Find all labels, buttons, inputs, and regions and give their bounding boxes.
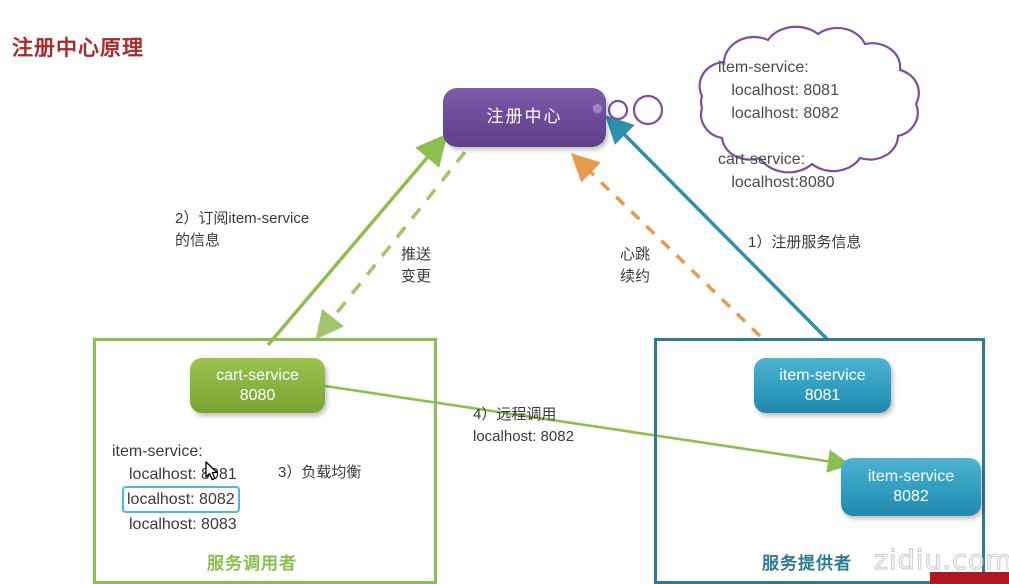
bottom-red-bar xyxy=(930,572,1009,584)
node-registry-label: 注册中心 xyxy=(487,107,563,128)
edge-loadbalance-label: 3）负载均衡 xyxy=(278,462,361,484)
edge-remote-label: 4）远程调用 localhost: 8082 xyxy=(473,404,574,448)
node-cart-service-port: 8080 xyxy=(240,386,276,406)
host-list-header: item-service: xyxy=(112,440,240,463)
node-cart-service-name: cart-service xyxy=(216,366,299,386)
node-cart-service[interactable]: cart-service 8080 xyxy=(190,358,325,413)
host-list: item-service: localhost: 8081 localhost:… xyxy=(112,440,240,536)
edge-subscribe-label: 2）订阅item-service 的信息 xyxy=(175,208,309,252)
node-item-service-8081-port: 8081 xyxy=(805,386,841,406)
node-item-service-8082[interactable]: item-service 8082 xyxy=(841,458,981,516)
node-item-service-8081-name: item-service xyxy=(779,366,865,386)
host-list-item-8083[interactable]: localhost: 8083 xyxy=(126,513,240,536)
mouse-cursor-icon xyxy=(205,461,221,483)
diagram-canvas: 注册中心原理 xyxy=(0,0,1009,584)
cloud-text: item-service: localhost: 8081 localhost:… xyxy=(718,56,839,194)
node-registry[interactable]: 注册中心 xyxy=(443,88,606,147)
consumer-group-label: 服务调用者 xyxy=(207,549,297,574)
edge-register-label: 1）注册服务信息 xyxy=(748,232,861,254)
host-list-item-8081[interactable]: localhost: 8081 xyxy=(126,463,240,486)
host-list-item-8082[interactable]: localhost: 8082 xyxy=(122,486,240,513)
provider-group-label: 服务提供者 xyxy=(762,549,852,574)
edge-push-line xyxy=(320,152,465,334)
edge-heartbeat-label: 心跳 续约 xyxy=(620,244,650,288)
edge-push-label: 推送 变更 xyxy=(401,244,431,288)
node-item-service-8082-port: 8082 xyxy=(893,487,929,507)
node-item-service-8081[interactable]: item-service 8081 xyxy=(754,358,891,413)
node-item-service-8082-name: item-service xyxy=(868,467,954,487)
registry-dot-icon xyxy=(592,103,603,114)
